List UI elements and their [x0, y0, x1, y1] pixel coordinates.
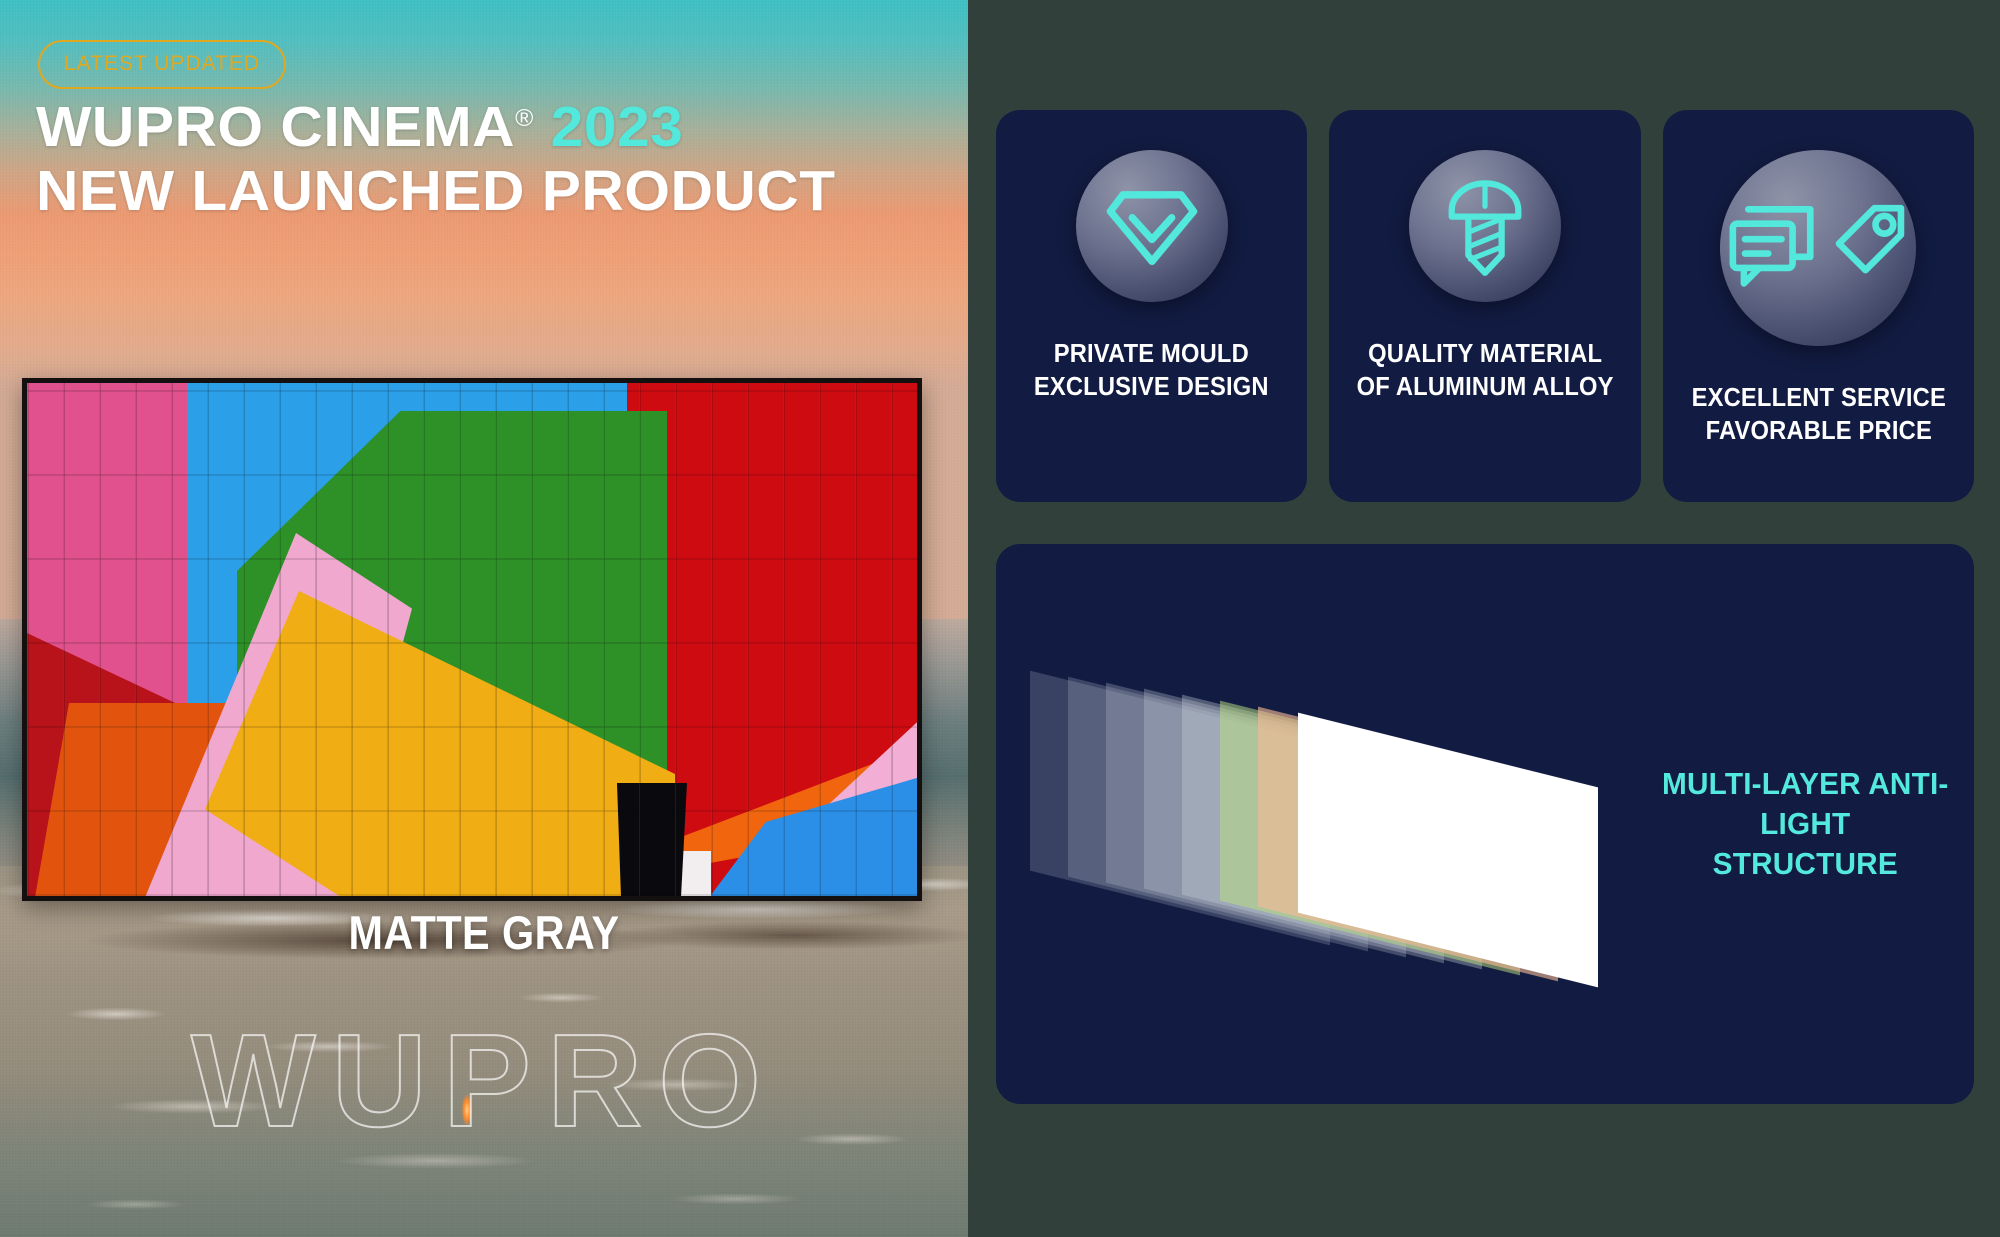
poster-root: LATEST UPDATED WUPRO CINEMA® 2023 NEW LA…: [0, 0, 2000, 1237]
feature-card-quality-material[interactable]: QUALITY MATERIAL OF ALUMINUM ALLOY: [1329, 110, 1640, 502]
feature-card-label: PRIVATE MOULD EXCLUSIVE DESIGN: [1034, 338, 1269, 403]
headline-line-2: NEW LAUNCHED PRODUCT: [36, 160, 963, 224]
icon-badge-circle: [1409, 150, 1561, 302]
mural-artwork-image: [27, 383, 917, 896]
product-color-label: MATTE GRAY: [58, 905, 910, 960]
feature-label-line-2: FAVORABLE PRICE: [1691, 415, 1945, 448]
brick-texture-highlight: [27, 383, 917, 896]
headline-line-1: WUPRO CINEMA® 2023: [36, 96, 963, 160]
feature-label-line-2: EXCLUSIVE DESIGN: [1034, 371, 1269, 404]
latest-updated-badge: LATEST UPDATED: [38, 40, 286, 89]
headline-year: 2023: [551, 95, 684, 159]
feature-card-row: PRIVATE MOULD EXCLUSIVE DESIGN: [996, 110, 1974, 502]
brand-watermark: WUPRO: [0, 1005, 968, 1156]
feature-label-line-2: OF ALUMINUM ALLOY: [1356, 371, 1613, 404]
headline-brand: WUPRO CINEMA: [36, 95, 515, 159]
layer-panel-front-white: [1298, 713, 1598, 988]
multi-layer-stack-icon: [1030, 614, 1650, 1034]
diamond-check-icon: [1100, 174, 1204, 278]
feature-label-line-1: PRIVATE MOULD: [1034, 338, 1269, 371]
feature-card-label: QUALITY MATERIAL OF ALUMINUM ALLOY: [1356, 338, 1613, 403]
screw-bolt-icon: [1433, 174, 1537, 278]
feature-card-label: EXCELLENT SERVICE FAVORABLE PRICE: [1691, 382, 1945, 447]
registered-trademark-icon: ®: [515, 105, 534, 132]
icon-badge-circle: [1720, 150, 1916, 346]
product-screen: [22, 378, 922, 901]
headline-block: WUPRO CINEMA® 2023 NEW LAUNCHED PRODUCT: [36, 96, 936, 224]
features-panel: PRIVATE MOULD EXCLUSIVE DESIGN: [968, 0, 2000, 1237]
feature-label-line-1: EXCELLENT SERVICE: [1691, 382, 1945, 415]
multi-layer-label-line-1: MULTI-LAYER ANTI-LIGHT: [1656, 764, 1954, 845]
feature-label-line-1: QUALITY MATERIAL: [1356, 338, 1613, 371]
feature-card-multi-layer[interactable]: MULTI-LAYER ANTI-LIGHT STRUCTURE: [996, 544, 1974, 1104]
badge-label: LATEST UPDATED: [64, 52, 260, 75]
chat-and-price-tag-icon: [1724, 192, 1912, 304]
hero-panel: LATEST UPDATED WUPRO CINEMA® 2023 NEW LA…: [0, 0, 968, 1237]
feature-card-private-mould[interactable]: PRIVATE MOULD EXCLUSIVE DESIGN: [996, 110, 1307, 502]
multi-layer-label: MULTI-LAYER ANTI-LIGHT STRUCTURE: [1656, 764, 1967, 885]
icon-badge-circle: [1076, 150, 1228, 302]
multi-layer-label-line-2: STRUCTURE: [1656, 844, 1954, 884]
feature-card-excellent-service[interactable]: EXCELLENT SERVICE FAVORABLE PRICE: [1663, 110, 1974, 502]
